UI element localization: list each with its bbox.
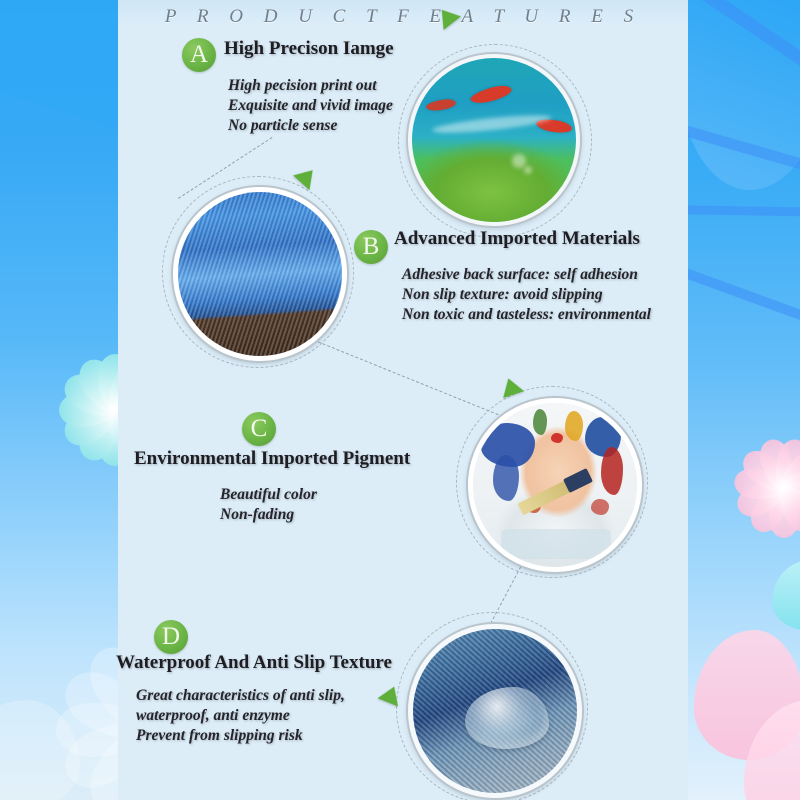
feature-heading-a: High Precison Iamge [224, 38, 394, 60]
water-droplet-fabric-photo [413, 629, 577, 793]
bullet-line: Non toxic and tasteless: environmental [402, 305, 651, 325]
right-decorative-band [688, 0, 800, 800]
right-vein-3 [688, 205, 800, 217]
feature-badge-d: D [154, 620, 188, 654]
bullet-line: Beautiful color [220, 485, 317, 505]
bullet-line: Exquisite and vivid image [228, 96, 393, 116]
feature-photo-a [408, 54, 580, 226]
feature-badge-a: A [182, 38, 216, 72]
feature-photo-d [408, 624, 582, 798]
feature-photo-c [468, 398, 642, 572]
feature-photo-b [173, 187, 347, 361]
bullet-line: Prevent from slipping risk [136, 726, 345, 746]
blue-ribbed-fabric-photo [178, 192, 342, 356]
right-vein-4 [688, 265, 800, 339]
feature-heading-d: Waterproof And Anti Slip Texture [116, 652, 392, 674]
feature-heading-c: Environmental Imported Pigment [134, 448, 410, 470]
koi-pond-print-photo [412, 58, 576, 222]
feature-bullets-a: High pecision print out Exquisite and vi… [228, 76, 393, 136]
bullet-line: High pecision print out [228, 76, 393, 96]
page-title: P R O D U C T F E A T U R E S [118, 6, 688, 28]
main-content-panel: P R O D U C T F E A T U R E S A High Pre… [118, 0, 688, 800]
left-shard-top [0, 0, 120, 137]
right-pink-flower-decoration [736, 440, 800, 536]
feature-badge-b: B [354, 230, 388, 264]
product-features-infographic: P R O D U C T F E A T U R E S A High Pre… [0, 0, 800, 800]
feature-badge-c: C [242, 412, 276, 446]
left-decorative-band [0, 0, 120, 800]
baby-painting-photo [473, 403, 637, 567]
bullet-line: waterproof, anti enzyme [136, 706, 345, 726]
bullet-line: Non-fading [220, 505, 317, 525]
flower-center [781, 485, 787, 491]
bullet-line: Adhesive back surface: self adhesion [402, 265, 651, 285]
left-flower-decoration [60, 355, 120, 465]
feature-bullets-c: Beautiful color Non-fading [220, 485, 317, 525]
right-cyan-blob [772, 560, 800, 630]
feature-bullets-b: Adhesive back surface: self adhesion Non… [402, 265, 651, 325]
bullet-line: No particle sense [228, 116, 393, 136]
bullet-line: Great characteristics of anti slip, [136, 686, 345, 706]
feature-heading-b: Advanced Imported Materials [394, 228, 640, 250]
bullet-line: Non slip texture: avoid slipping [402, 285, 651, 305]
feature-bullets-d: Great characteristics of anti slip, wate… [136, 686, 345, 746]
